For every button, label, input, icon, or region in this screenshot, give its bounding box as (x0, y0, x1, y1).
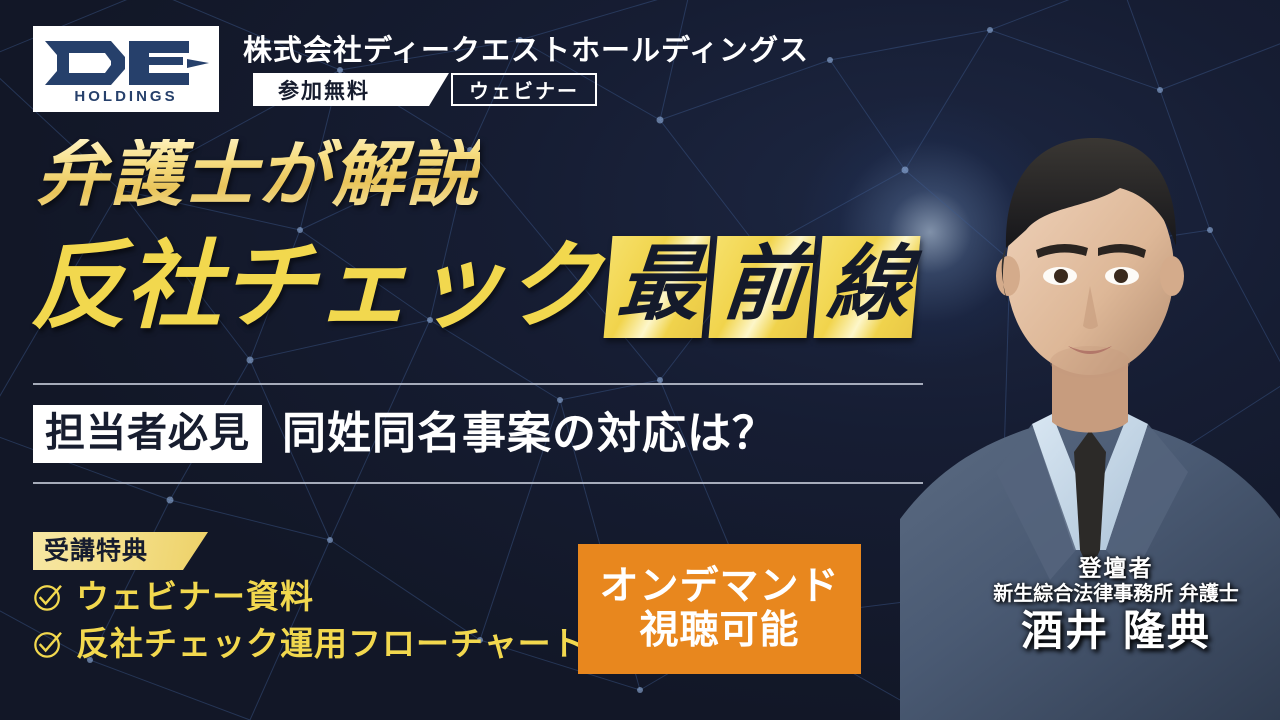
subhead-text: 同姓同名事案の対応は？ (282, 412, 777, 456)
speaker-name: 酒井 隆典 (966, 608, 1266, 654)
benefits-ribbon-label: 受講特典 (44, 539, 148, 564)
headline-line-1: 弁護士が解説 (36, 139, 480, 211)
badge-free-admission: 参加無料 (253, 73, 449, 106)
company-logo: HOLDINGS (33, 26, 219, 112)
subheadline: 担当者必見 同姓同名事案の対応は？ (33, 403, 777, 465)
on-demand-line-2: 視聴可能 (639, 609, 799, 653)
on-demand-line-1: オンデマンド (599, 565, 839, 609)
badge-format-label: ウェビナー (469, 75, 579, 104)
company-name: 株式会社ディークエストホールディングス (243, 27, 809, 69)
headline-line-2-boxes: 最 前 線 (608, 236, 923, 338)
benefits-list: ウェビナー資料 反社チェック運用フローチャート (33, 580, 586, 674)
benefit-item: ウェビナー資料 (33, 580, 586, 613)
speaker-firm-title: 新生綜合法律事務所 弁護士 (966, 583, 1266, 605)
speaker-caption: 登壇者 新生綜合法律事務所 弁護士 酒井 隆典 (966, 556, 1266, 654)
speaker-role-label: 登壇者 (966, 556, 1266, 581)
headline-box-2: 前 (709, 236, 816, 338)
benefit-item: 反社チェック運用フローチャート (33, 627, 586, 660)
benefits-ribbon: 受講特典 (33, 532, 208, 570)
headline-box-1: 最 (604, 236, 711, 338)
logo-wordmark: HOLDINGS (74, 88, 177, 103)
headline-box-3: 線 (814, 236, 921, 338)
check-circle-icon (33, 629, 63, 659)
on-demand-badge: オンデマンド 視聴可能 (578, 544, 861, 674)
dq-holdings-logo-icon: HOLDINGS (43, 35, 209, 103)
badge-free-label: 参加無料 (278, 75, 370, 105)
headline-line-2-plain: 反社チェック (30, 239, 600, 335)
event-badge: 参加無料 ウェビナー (253, 73, 597, 106)
benefit-label: 反社チェック運用フローチャート (76, 627, 586, 660)
headline-line-2: 反社チェック 最 前 線 (30, 228, 923, 346)
webinar-banner: HOLDINGS 株式会社ディークエストホールディングス 参加無料 ウェビナー … (0, 0, 1280, 720)
divider-bottom (33, 482, 923, 484)
benefit-label: ウェビナー資料 (76, 580, 314, 613)
check-circle-icon (33, 582, 63, 612)
subhead-tag: 担当者必見 (33, 405, 262, 463)
divider-top (33, 383, 923, 385)
badge-format: ウェビナー (451, 73, 597, 106)
